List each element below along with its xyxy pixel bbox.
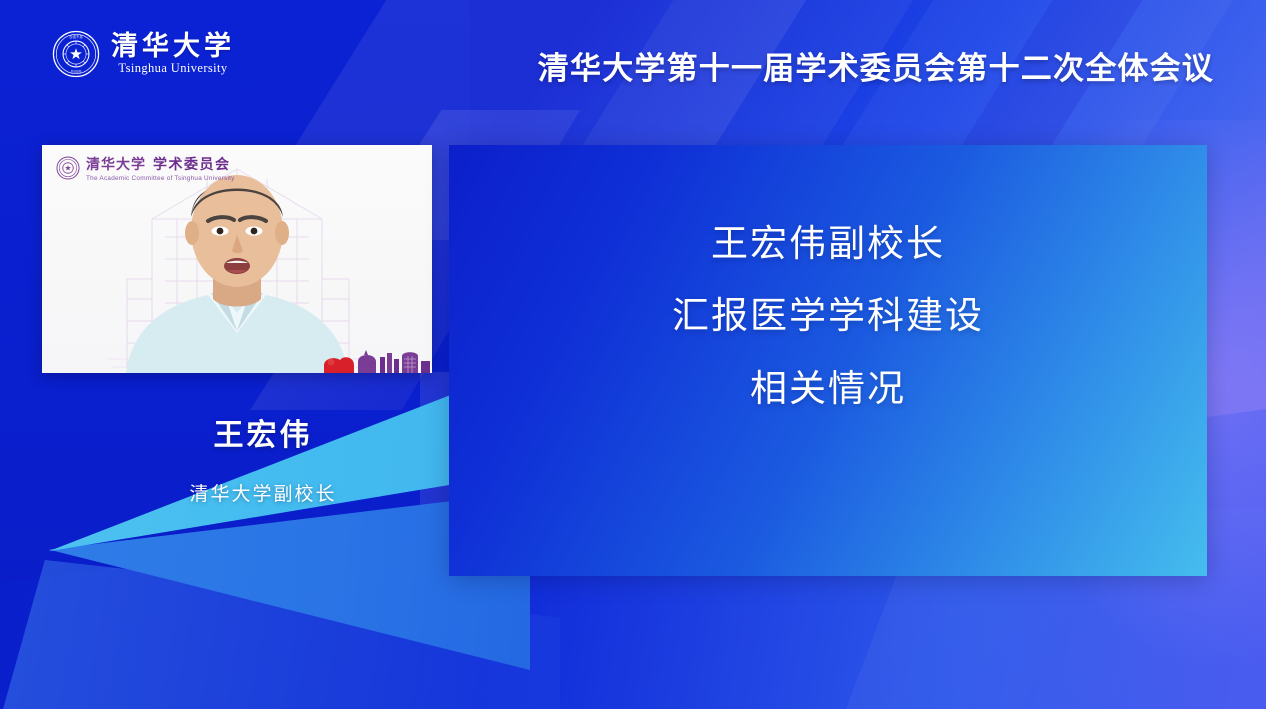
broadcast-slide: 自强不息 厚德载物 清华大学 Tsinghua University 清华大学第…	[0, 0, 1266, 709]
speaker-video-tile: 清华大学 学术委员会 The Academic Committee of Tsi…	[42, 145, 432, 373]
agenda-panel: 王宏伟副校长 汇报医学学科建设 相关情况	[449, 145, 1207, 576]
meeting-title: 清华大学第十一届学术委员会第十二次全体会议	[0, 43, 1214, 88]
academic-committee-logo: 清华大学 学术委员会 The Academic Committee of Tsi…	[56, 154, 235, 182]
agenda-line-2: 汇报医学学科建设	[672, 293, 984, 339]
academic-committee-logo-text: 清华大学 学术委员会 The Academic Committee of Tsi…	[86, 154, 235, 182]
agenda-line-3: 相关情况	[750, 366, 906, 412]
academic-committee-org-cn: 清华大学	[86, 154, 146, 174]
city-skyline-icon	[322, 343, 432, 373]
svg-text:自强不息: 自强不息	[69, 34, 83, 39]
slide-header: 自强不息 厚德载物 清华大学 Tsinghua University 清华大学第…	[0, 0, 1266, 145]
lower-third-name-block: 王宏伟 清华大学副校长	[118, 418, 408, 506]
agenda-panel-text: 王宏伟副校长 汇报医学学科建设 相关情况	[672, 221, 984, 412]
academic-committee-org-en: The Academic Committee of Tsinghua Unive…	[86, 175, 235, 182]
speaker-name: 王宏伟	[118, 418, 408, 454]
agenda-line-1: 王宏伟副校长	[711, 221, 945, 267]
academic-committee-seal-icon	[56, 156, 80, 180]
academic-committee-unit-cn: 学术委员会	[153, 154, 231, 174]
speaker-title: 清华大学副校长	[118, 479, 408, 506]
